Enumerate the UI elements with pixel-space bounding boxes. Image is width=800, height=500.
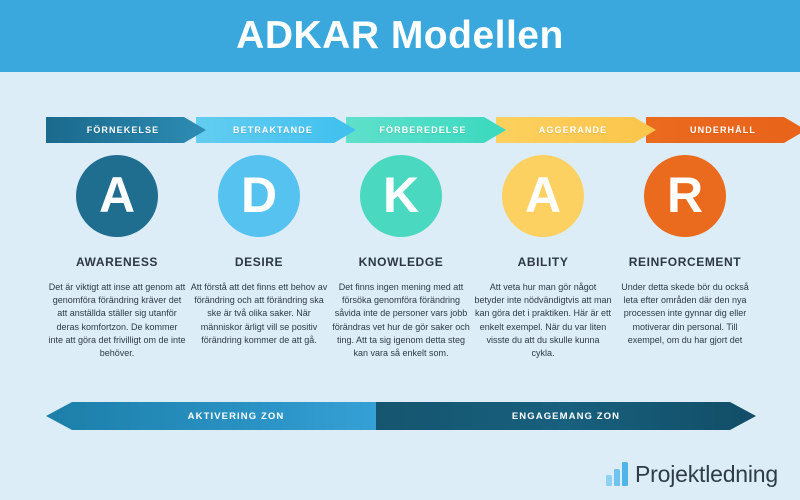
stage-body-text: Att veta hur man gör något betyder inte … bbox=[468, 281, 618, 360]
stage-body-text: Det finns ingen mening med att försöka g… bbox=[326, 281, 476, 360]
phase-arrow-underhall[interactable]: UNDERHÅLL bbox=[646, 117, 800, 143]
stage-body-text: Under detta skede bör du också leta efte… bbox=[610, 281, 760, 347]
phase-arrow-fornekelse[interactable]: FÖRNEKELSE bbox=[46, 117, 206, 143]
bar-chart-icon bbox=[606, 462, 628, 486]
page-title: ADKAR Modellen bbox=[0, 10, 800, 62]
bar-chart-icon-bar-2 bbox=[614, 469, 620, 486]
stage-body-text: Att förstå att det finns ett behov av fö… bbox=[184, 281, 334, 347]
stage-heading: REINFORCEMENT bbox=[610, 255, 760, 269]
phase-arrow-aggerande[interactable]: AGGERANDE bbox=[496, 117, 656, 143]
phase-arrow-label: FÖRBEREDELSE bbox=[379, 125, 472, 135]
stage-circle-ability[interactable]: A bbox=[502, 155, 584, 237]
phase-arrow-label: FÖRNEKELSE bbox=[87, 125, 166, 135]
stage-column-desire: DESIRE Att förstå att det finns ett beho… bbox=[184, 255, 334, 347]
footer-logo[interactable]: Projektledning bbox=[606, 462, 778, 486]
phase-arrow-band: FÖRNEKELSE BETRAKTANDE FÖRBEREDELSE AGGE… bbox=[46, 117, 756, 143]
stage-heading: ABILITY bbox=[468, 255, 618, 269]
stage-letter: A bbox=[99, 170, 135, 220]
stage-circle-desire[interactable]: D bbox=[218, 155, 300, 237]
stage-body-text: Det är viktigt att inse att genom att ge… bbox=[42, 281, 192, 360]
zone-arrow-label: ENGAGEMANG ZON bbox=[512, 411, 620, 422]
phase-arrow-label: UNDERHÅLL bbox=[690, 125, 762, 135]
phase-arrow-forberedelse[interactable]: FÖRBEREDELSE bbox=[346, 117, 506, 143]
stage-letter: R bbox=[667, 170, 703, 220]
stage-descriptions-row: AWARENESS Det är viktigt att inse att ge… bbox=[46, 255, 756, 395]
stage-column-ability: ABILITY Att veta hur man gör något betyd… bbox=[468, 255, 618, 360]
logo-wordmark: Projektledning bbox=[635, 462, 778, 486]
phase-arrow-betraktande[interactable]: BETRAKTANDE bbox=[196, 117, 356, 143]
zone-arrow-label: AKTIVERING ZON bbox=[188, 411, 285, 422]
stage-column-knowledge: KNOWLEDGE Det finns ingen mening med att… bbox=[326, 255, 476, 360]
stage-column-reinforcement: REINFORCEMENT Under detta skede bör du o… bbox=[610, 255, 760, 347]
zone-arrow-engagemang[interactable]: ENGAGEMANG ZON bbox=[376, 402, 756, 430]
stage-circle-knowledge[interactable]: K bbox=[360, 155, 442, 237]
stage-heading: KNOWLEDGE bbox=[326, 255, 476, 269]
stage-circle-reinforcement[interactable]: R bbox=[644, 155, 726, 237]
stage-circle-awareness[interactable]: A bbox=[76, 155, 158, 237]
adkar-infographic: ADKAR Modellen FÖRNEKELSE BETRAKTANDE FÖ… bbox=[0, 0, 800, 500]
phase-arrow-label: AGGERANDE bbox=[539, 125, 613, 135]
bar-chart-icon-bar-1 bbox=[606, 475, 612, 486]
zone-arrow-aktivering[interactable]: AKTIVERING ZON bbox=[46, 402, 426, 430]
stage-circles-row: A D K A R bbox=[46, 155, 756, 237]
stage-letter: D bbox=[241, 170, 277, 220]
stage-heading: AWARENESS bbox=[42, 255, 192, 269]
stage-heading: DESIRE bbox=[184, 255, 334, 269]
phase-arrow-label: BETRAKTANDE bbox=[233, 125, 319, 135]
zone-arrow-band: AKTIVERING ZON ENGAGEMANG ZON bbox=[46, 402, 756, 430]
stage-column-awareness: AWARENESS Det är viktigt att inse att ge… bbox=[42, 255, 192, 360]
bar-chart-icon-bar-3 bbox=[622, 462, 628, 486]
stage-letter: A bbox=[525, 170, 561, 220]
stage-letter: K bbox=[383, 170, 419, 220]
